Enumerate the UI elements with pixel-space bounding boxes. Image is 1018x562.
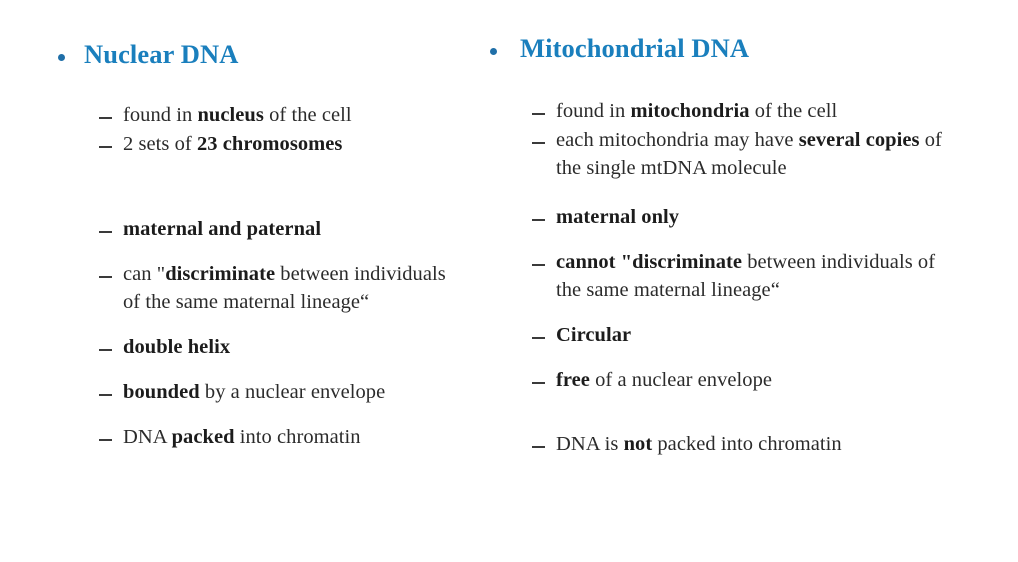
- en-dash-bullet-icon: [532, 142, 545, 144]
- spacer: [532, 184, 962, 204]
- spacer: [532, 395, 962, 431]
- list-item: DNA is not packed into chromatin: [532, 431, 962, 459]
- spacer: [99, 363, 459, 379]
- list-item-label: 2 sets of 23 chromosomes: [123, 131, 342, 159]
- en-dash-bullet-icon: [532, 446, 545, 448]
- comparison-columns: Nuclear DNA found in nucleus of the cell…: [0, 0, 1018, 562]
- en-dash-bullet-icon: [99, 439, 112, 441]
- emphasis-text: mitochondria: [630, 100, 749, 122]
- list-item-label: DNA is not packed into chromatin: [556, 431, 842, 459]
- list-item: can "discriminate between individuals of…: [99, 261, 459, 317]
- plain-text: can ": [123, 263, 165, 285]
- emphasis-text: packed: [172, 426, 235, 448]
- plain-text: packed into chromatin: [652, 433, 842, 455]
- list-item-label: Circular: [556, 322, 631, 350]
- en-dash-bullet-icon: [532, 113, 545, 115]
- en-dash-bullet-icon: [99, 276, 112, 278]
- list-item-label: each mitochondria may have several copie…: [556, 127, 962, 183]
- spacer: [532, 233, 962, 249]
- en-dash-bullet-icon: [99, 146, 112, 148]
- page-title-mitochondrial-dna: Mitochondrial DNA: [520, 32, 749, 65]
- list-item-label: can "discriminate between individuals of…: [123, 261, 459, 317]
- list-item-label: maternal only: [556, 204, 679, 232]
- list-item-label: DNA packed into chromatin: [123, 424, 361, 452]
- heading-row-nuclear-dna: Nuclear DNA: [58, 38, 470, 71]
- emphasis-text: free: [556, 369, 590, 391]
- list-item: maternal only: [532, 204, 962, 232]
- emphasis-text: double helix: [123, 336, 230, 358]
- en-dash-bullet-icon: [99, 394, 112, 396]
- plain-text: found in: [556, 100, 630, 122]
- spacer: [99, 160, 459, 216]
- emphasis-text: maternal only: [556, 206, 679, 228]
- list-item: found in mitochondria of the cell: [532, 98, 962, 126]
- plain-text: by a nuclear envelope: [200, 381, 386, 403]
- sublist-nuclear-dna: found in nucleus of the cell2 sets of 23…: [99, 102, 459, 451]
- spacer: [99, 245, 459, 261]
- spacer: [532, 306, 962, 322]
- emphasis-text: 23 chromosomes: [197, 133, 343, 155]
- list-item-label: found in nucleus of the cell: [123, 102, 352, 130]
- heading-row-mitochondrial-dna: Mitochondrial DNA: [490, 32, 1018, 65]
- list-item-label: double helix: [123, 334, 230, 362]
- en-dash-bullet-icon: [99, 349, 112, 351]
- column-nuclear-dna: Nuclear DNA found in nucleus of the cell…: [0, 0, 470, 452]
- emphasis-text: Circular: [556, 324, 631, 346]
- list-item-label: free of a nuclear envelope: [556, 367, 772, 395]
- list-item: DNA packed into chromatin: [99, 424, 459, 452]
- plain-text: of a nuclear envelope: [590, 369, 772, 391]
- list-item: found in nucleus of the cell: [99, 102, 459, 130]
- list-item: maternal and paternal: [99, 216, 459, 244]
- list-item: cannot "discriminate between individuals…: [532, 249, 962, 305]
- round-bullet-icon: [490, 48, 497, 55]
- emphasis-text: several copies: [799, 129, 920, 151]
- emphasis-text: discriminate: [165, 263, 275, 285]
- emphasis-text: bounded: [123, 381, 200, 403]
- round-bullet-icon: [58, 54, 65, 61]
- list-item: bounded by a nuclear envelope: [99, 379, 459, 407]
- en-dash-bullet-icon: [532, 382, 545, 384]
- en-dash-bullet-icon: [532, 337, 545, 339]
- list-item: double helix: [99, 334, 459, 362]
- plain-text: DNA is: [556, 433, 624, 455]
- en-dash-bullet-icon: [532, 219, 545, 221]
- sublist-mitochondrial-dna: found in mitochondria of the celleach mi…: [532, 98, 962, 459]
- plain-text: of the cell: [750, 100, 838, 122]
- slide-root: Nuclear DNA found in nucleus of the cell…: [0, 0, 1018, 562]
- en-dash-bullet-icon: [99, 231, 112, 233]
- list-item-label: maternal and paternal: [123, 216, 321, 244]
- en-dash-bullet-icon: [532, 264, 545, 266]
- plain-text: of the cell: [264, 104, 352, 126]
- page-title-nuclear-dna: Nuclear DNA: [84, 38, 238, 71]
- list-item-label: bounded by a nuclear envelope: [123, 379, 385, 407]
- emphasis-text: maternal and paternal: [123, 218, 321, 240]
- list-item-label: found in mitochondria of the cell: [556, 98, 837, 126]
- spacer: [532, 351, 962, 367]
- plain-text: found in: [123, 104, 197, 126]
- emphasis-text: cannot "discriminate: [556, 251, 742, 273]
- spacer: [99, 408, 459, 424]
- spacer: [99, 318, 459, 334]
- plain-text: 2 sets of: [123, 133, 197, 155]
- plain-text: into chromatin: [235, 426, 361, 448]
- plain-text: DNA: [123, 426, 172, 448]
- list-item: each mitochondria may have several copie…: [532, 127, 962, 183]
- list-item-label: cannot "discriminate between individuals…: [556, 249, 962, 305]
- list-item: Circular: [532, 322, 962, 350]
- plain-text: each mitochondria may have: [556, 129, 799, 151]
- emphasis-text: not: [624, 433, 653, 455]
- en-dash-bullet-icon: [99, 117, 112, 119]
- column-mitochondrial-dna: Mitochondrial DNA found in mitochondria …: [470, 0, 1018, 460]
- list-item: 2 sets of 23 chromosomes: [99, 131, 459, 159]
- list-item: free of a nuclear envelope: [532, 367, 962, 395]
- emphasis-text: nucleus: [197, 104, 263, 126]
